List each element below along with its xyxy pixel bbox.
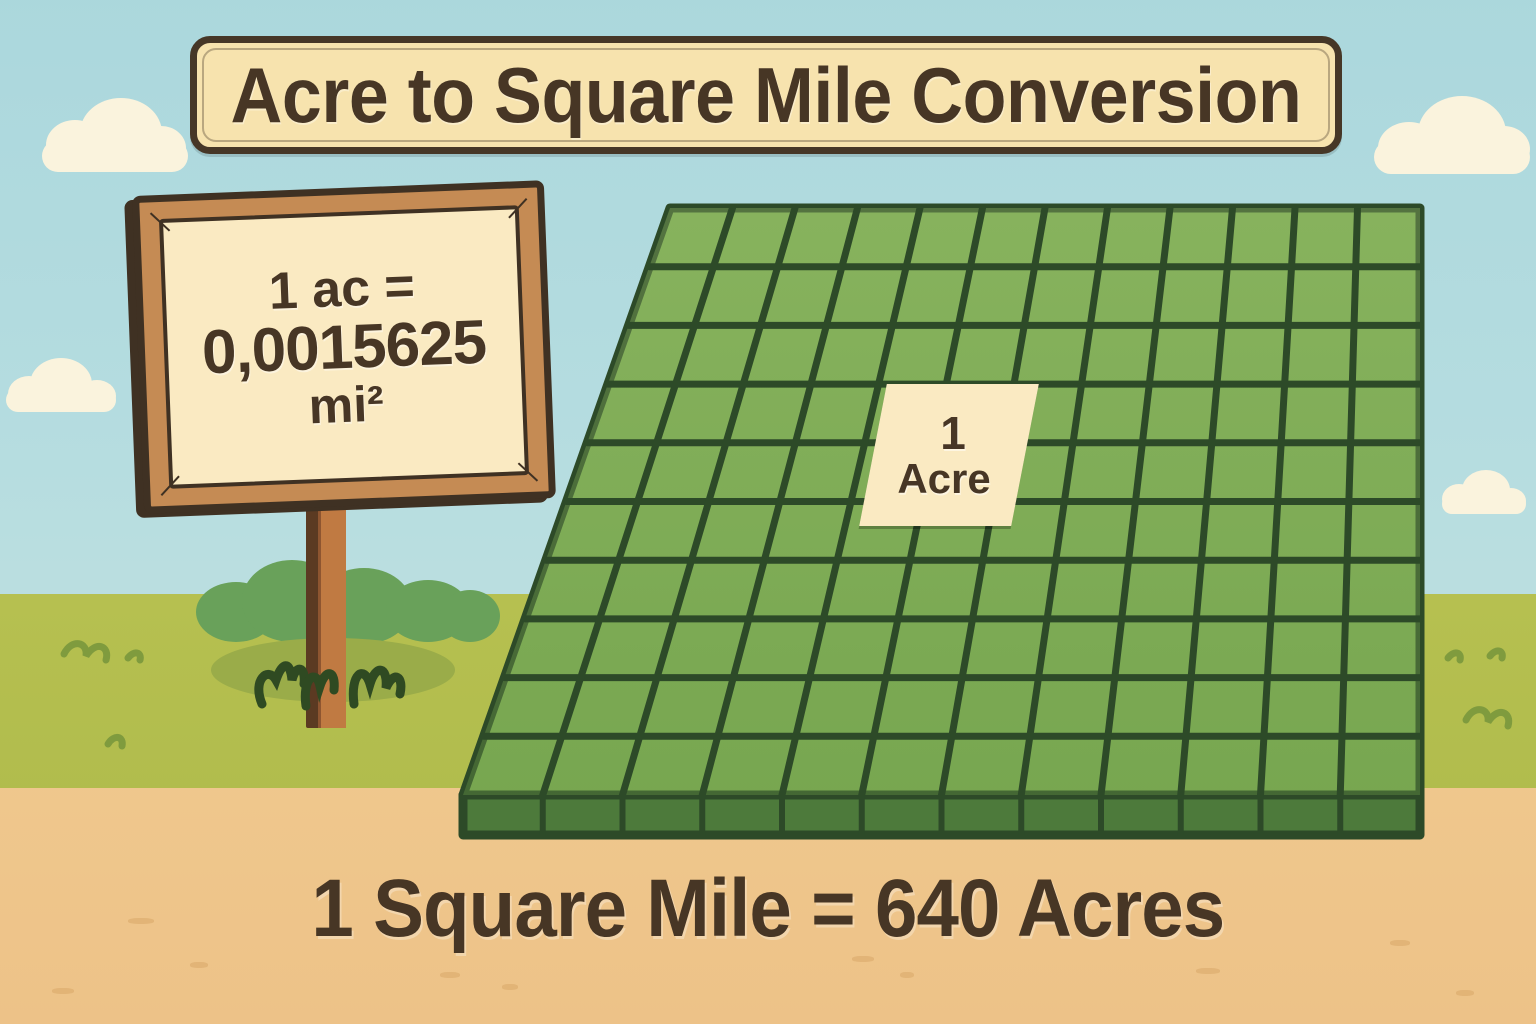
one-acre-highlight-cell: 1 Acre	[859, 384, 1039, 526]
acre-label: Acre	[898, 457, 991, 501]
illustration-canvas: 1 ac = 0,0015625 mi² 1 Acre	[0, 0, 1536, 1024]
sand-speck	[190, 962, 208, 968]
acre-number: 1	[940, 409, 966, 457]
sand-speck	[900, 972, 914, 978]
cloud-icon	[40, 98, 190, 170]
cloud-icon	[1374, 96, 1532, 174]
sign-line-1: 1 ac =	[268, 261, 416, 320]
bottom-caption: 1 Square Mile = 640 Acres	[0, 862, 1536, 956]
grass-decorations	[0, 594, 1536, 794]
sign-line-3: mi²	[308, 378, 385, 432]
sand-speck	[1456, 990, 1474, 996]
title-banner: Acre to Square Mile Conversion	[190, 36, 1342, 154]
sand-speck	[1196, 968, 1220, 974]
sand-speck	[440, 972, 460, 978]
sand-speck	[52, 988, 74, 994]
sand-speck	[128, 918, 154, 924]
sand-speck	[1390, 940, 1410, 946]
cloud-icon	[6, 358, 118, 412]
sand-speck	[502, 984, 518, 990]
page-title: Acre to Square Mile Conversion	[231, 50, 1302, 141]
sand-speck	[852, 956, 874, 962]
cloud-icon	[1442, 470, 1528, 514]
bottom-caption-text: 1 Square Mile = 640 Acres	[312, 862, 1225, 956]
